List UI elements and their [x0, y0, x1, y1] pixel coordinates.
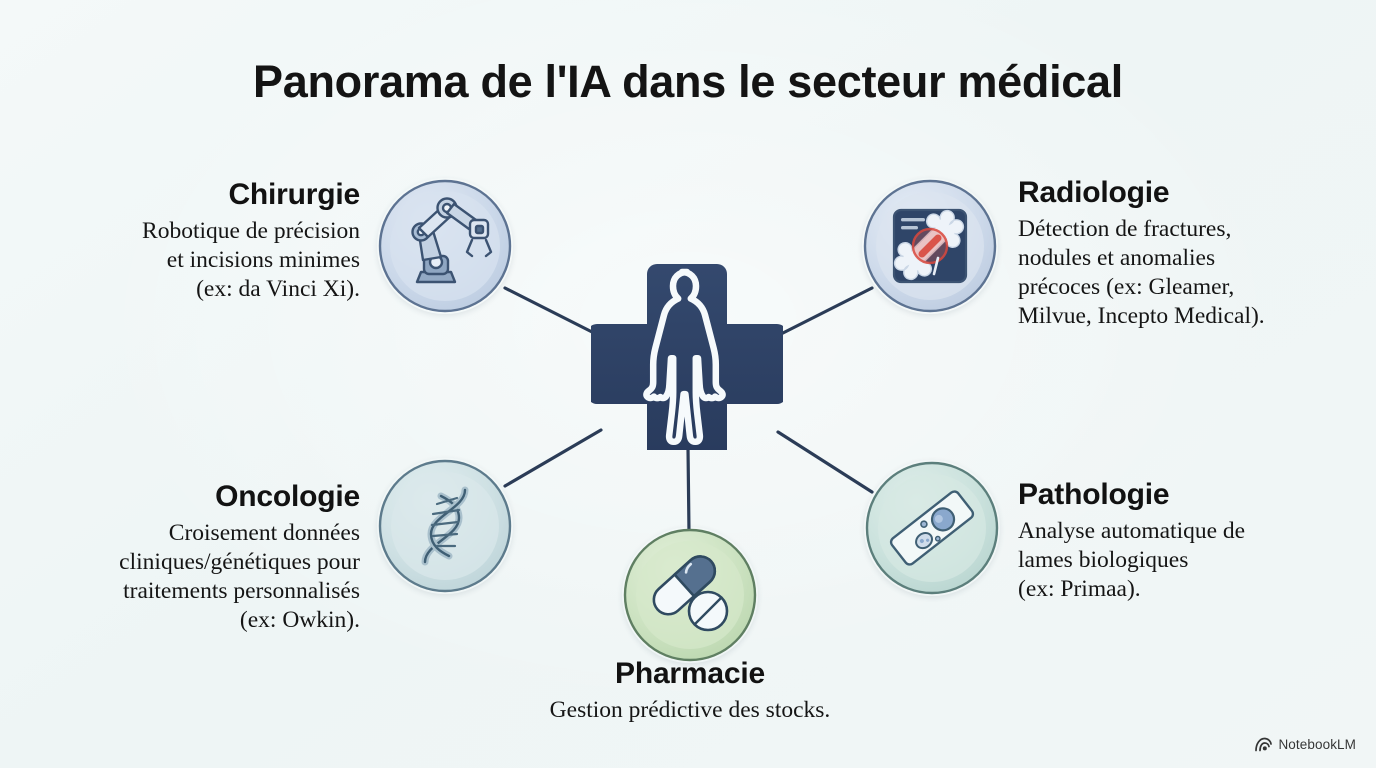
dna-helix-icon: [377, 458, 513, 594]
heading-chirurgie: Chirurgie: [48, 178, 360, 212]
block-radiologie: Radiologie Détection de fractures, nodul…: [1018, 176, 1348, 331]
robotic-arm-icon: [377, 178, 513, 314]
heading-pharmacie: Pharmacie: [470, 657, 910, 691]
node-oncologie[interactable]: [377, 458, 513, 594]
body-oncologie: Croisement données cliniques/génétiques …: [28, 519, 360, 636]
connector-pathologie: [778, 432, 872, 492]
medical-cross-icon: [591, 258, 783, 450]
node-pharmacie[interactable]: [622, 527, 758, 663]
block-chirurgie: Chirurgie Robotique de précision et inci…: [48, 178, 360, 304]
heading-radiologie: Radiologie: [1018, 176, 1348, 210]
block-pathologie: Pathologie Analyse automatique de lames …: [1018, 478, 1348, 604]
watermark-label: NotebookLM: [1278, 737, 1356, 752]
body-pharmacie: Gestion prédictive des stocks.: [470, 696, 910, 725]
notebooklm-watermark: NotebookLM: [1255, 737, 1356, 752]
pills-icon: [622, 527, 758, 663]
node-chirurgie[interactable]: [377, 178, 513, 314]
heading-oncologie: Oncologie: [28, 480, 360, 514]
body-pathologie: Analyse automatique de lames biologiques…: [1018, 517, 1348, 604]
page-title: Panorama de l'IA dans le secteur médical: [0, 56, 1376, 108]
infographic-canvas: Panorama de l'IA dans le secteur médical: [0, 0, 1376, 768]
microscope-slide-icon: [864, 460, 1000, 596]
body-chirurgie: Robotique de précision et incisions mini…: [48, 217, 360, 304]
notebooklm-logo-icon: [1255, 737, 1272, 752]
connector-pharmacie: [688, 448, 689, 532]
connector-chirurgie: [505, 288, 600, 336]
body-radiologie: Détection de fractures, nodules et anoma…: [1018, 215, 1348, 332]
block-oncologie: Oncologie Croisement données cliniques/g…: [28, 480, 360, 635]
node-radiologie[interactable]: [862, 178, 998, 314]
node-pathologie[interactable]: [864, 460, 1000, 596]
block-pharmacie: Pharmacie Gestion prédictive des stocks.: [470, 657, 910, 725]
center-emblem: [591, 258, 783, 450]
xray-screen-icon: [862, 178, 998, 314]
connector-oncologie: [505, 430, 601, 486]
connector-radiologie: [777, 288, 872, 336]
heading-pathologie: Pathologie: [1018, 478, 1348, 512]
